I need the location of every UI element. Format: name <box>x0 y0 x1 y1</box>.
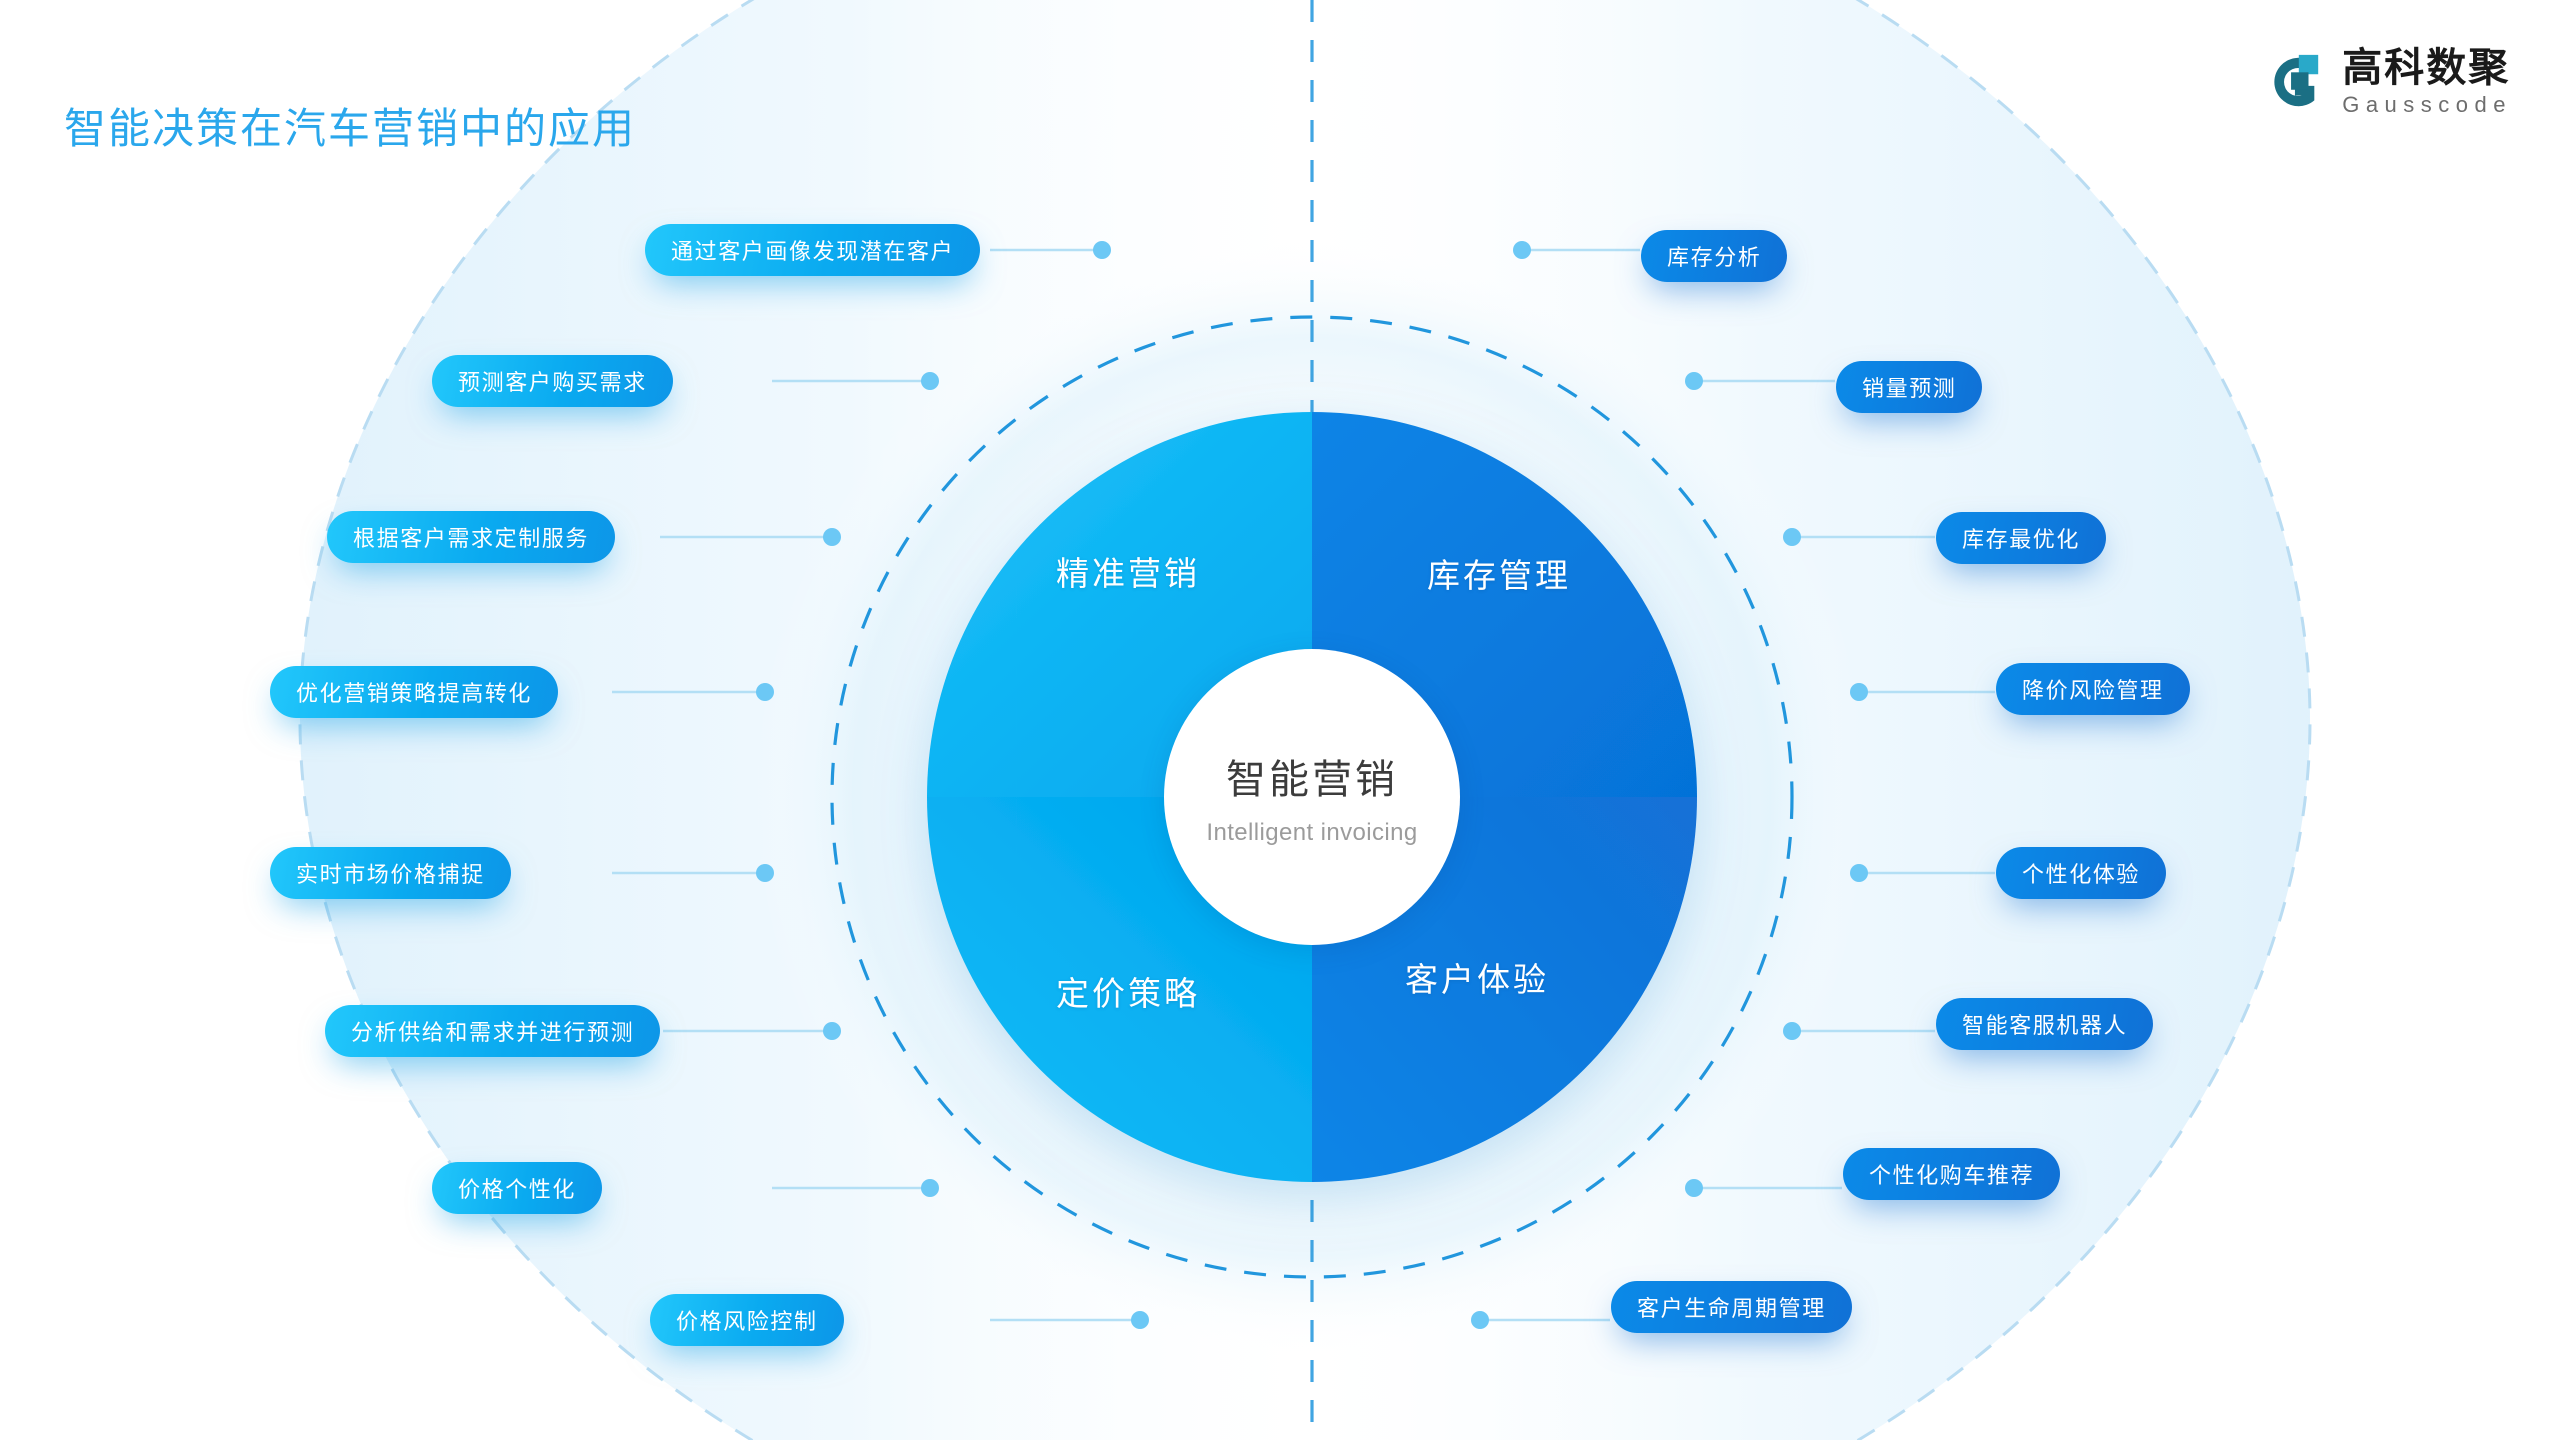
list-item[interactable]: 智能客服机器人 <box>1936 998 2153 1050</box>
list-item[interactable]: 客户生命周期管理 <box>1611 1281 1852 1333</box>
quadrant-label-precision-marketing: 精准营销 <box>1056 547 1200 595</box>
list-item[interactable]: 优化营销策略提高转化 <box>270 666 558 718</box>
hub-title-cn: 智能营销 <box>1226 747 1398 805</box>
quadrant-label-inventory-management: 库存管理 <box>1427 549 1571 597</box>
list-item[interactable]: 实时市场价格捕捉 <box>270 847 511 899</box>
list-item[interactable]: 通过客户画像发现潜在客户 <box>645 224 980 276</box>
list-item[interactable]: 库存最优化 <box>1936 512 2106 564</box>
list-item[interactable]: 库存分析 <box>1641 230 1787 282</box>
list-item[interactable]: 个性化购车推荐 <box>1843 1148 2060 1200</box>
center-hub: 智能营销 Intelligent invoicing <box>1164 649 1460 945</box>
list-item[interactable]: 销量预测 <box>1836 361 1982 413</box>
list-item[interactable]: 根据客户需求定制服务 <box>327 511 615 563</box>
list-item[interactable]: 价格个性化 <box>432 1162 602 1214</box>
quadrant-label-customer-experience: 客户体验 <box>1405 953 1549 1001</box>
list-item[interactable]: 分析供给和需求并进行预测 <box>325 1005 660 1057</box>
hub-title-en: Intelligent invoicing <box>1206 819 1417 847</box>
list-item[interactable]: 预测客户购买需求 <box>432 355 673 407</box>
list-item[interactable]: 价格风险控制 <box>650 1294 844 1346</box>
quadrant-label-pricing-strategy: 定价策略 <box>1056 967 1200 1015</box>
list-item[interactable]: 个性化体验 <box>1996 847 2166 899</box>
list-item[interactable]: 降价风险管理 <box>1996 663 2190 715</box>
